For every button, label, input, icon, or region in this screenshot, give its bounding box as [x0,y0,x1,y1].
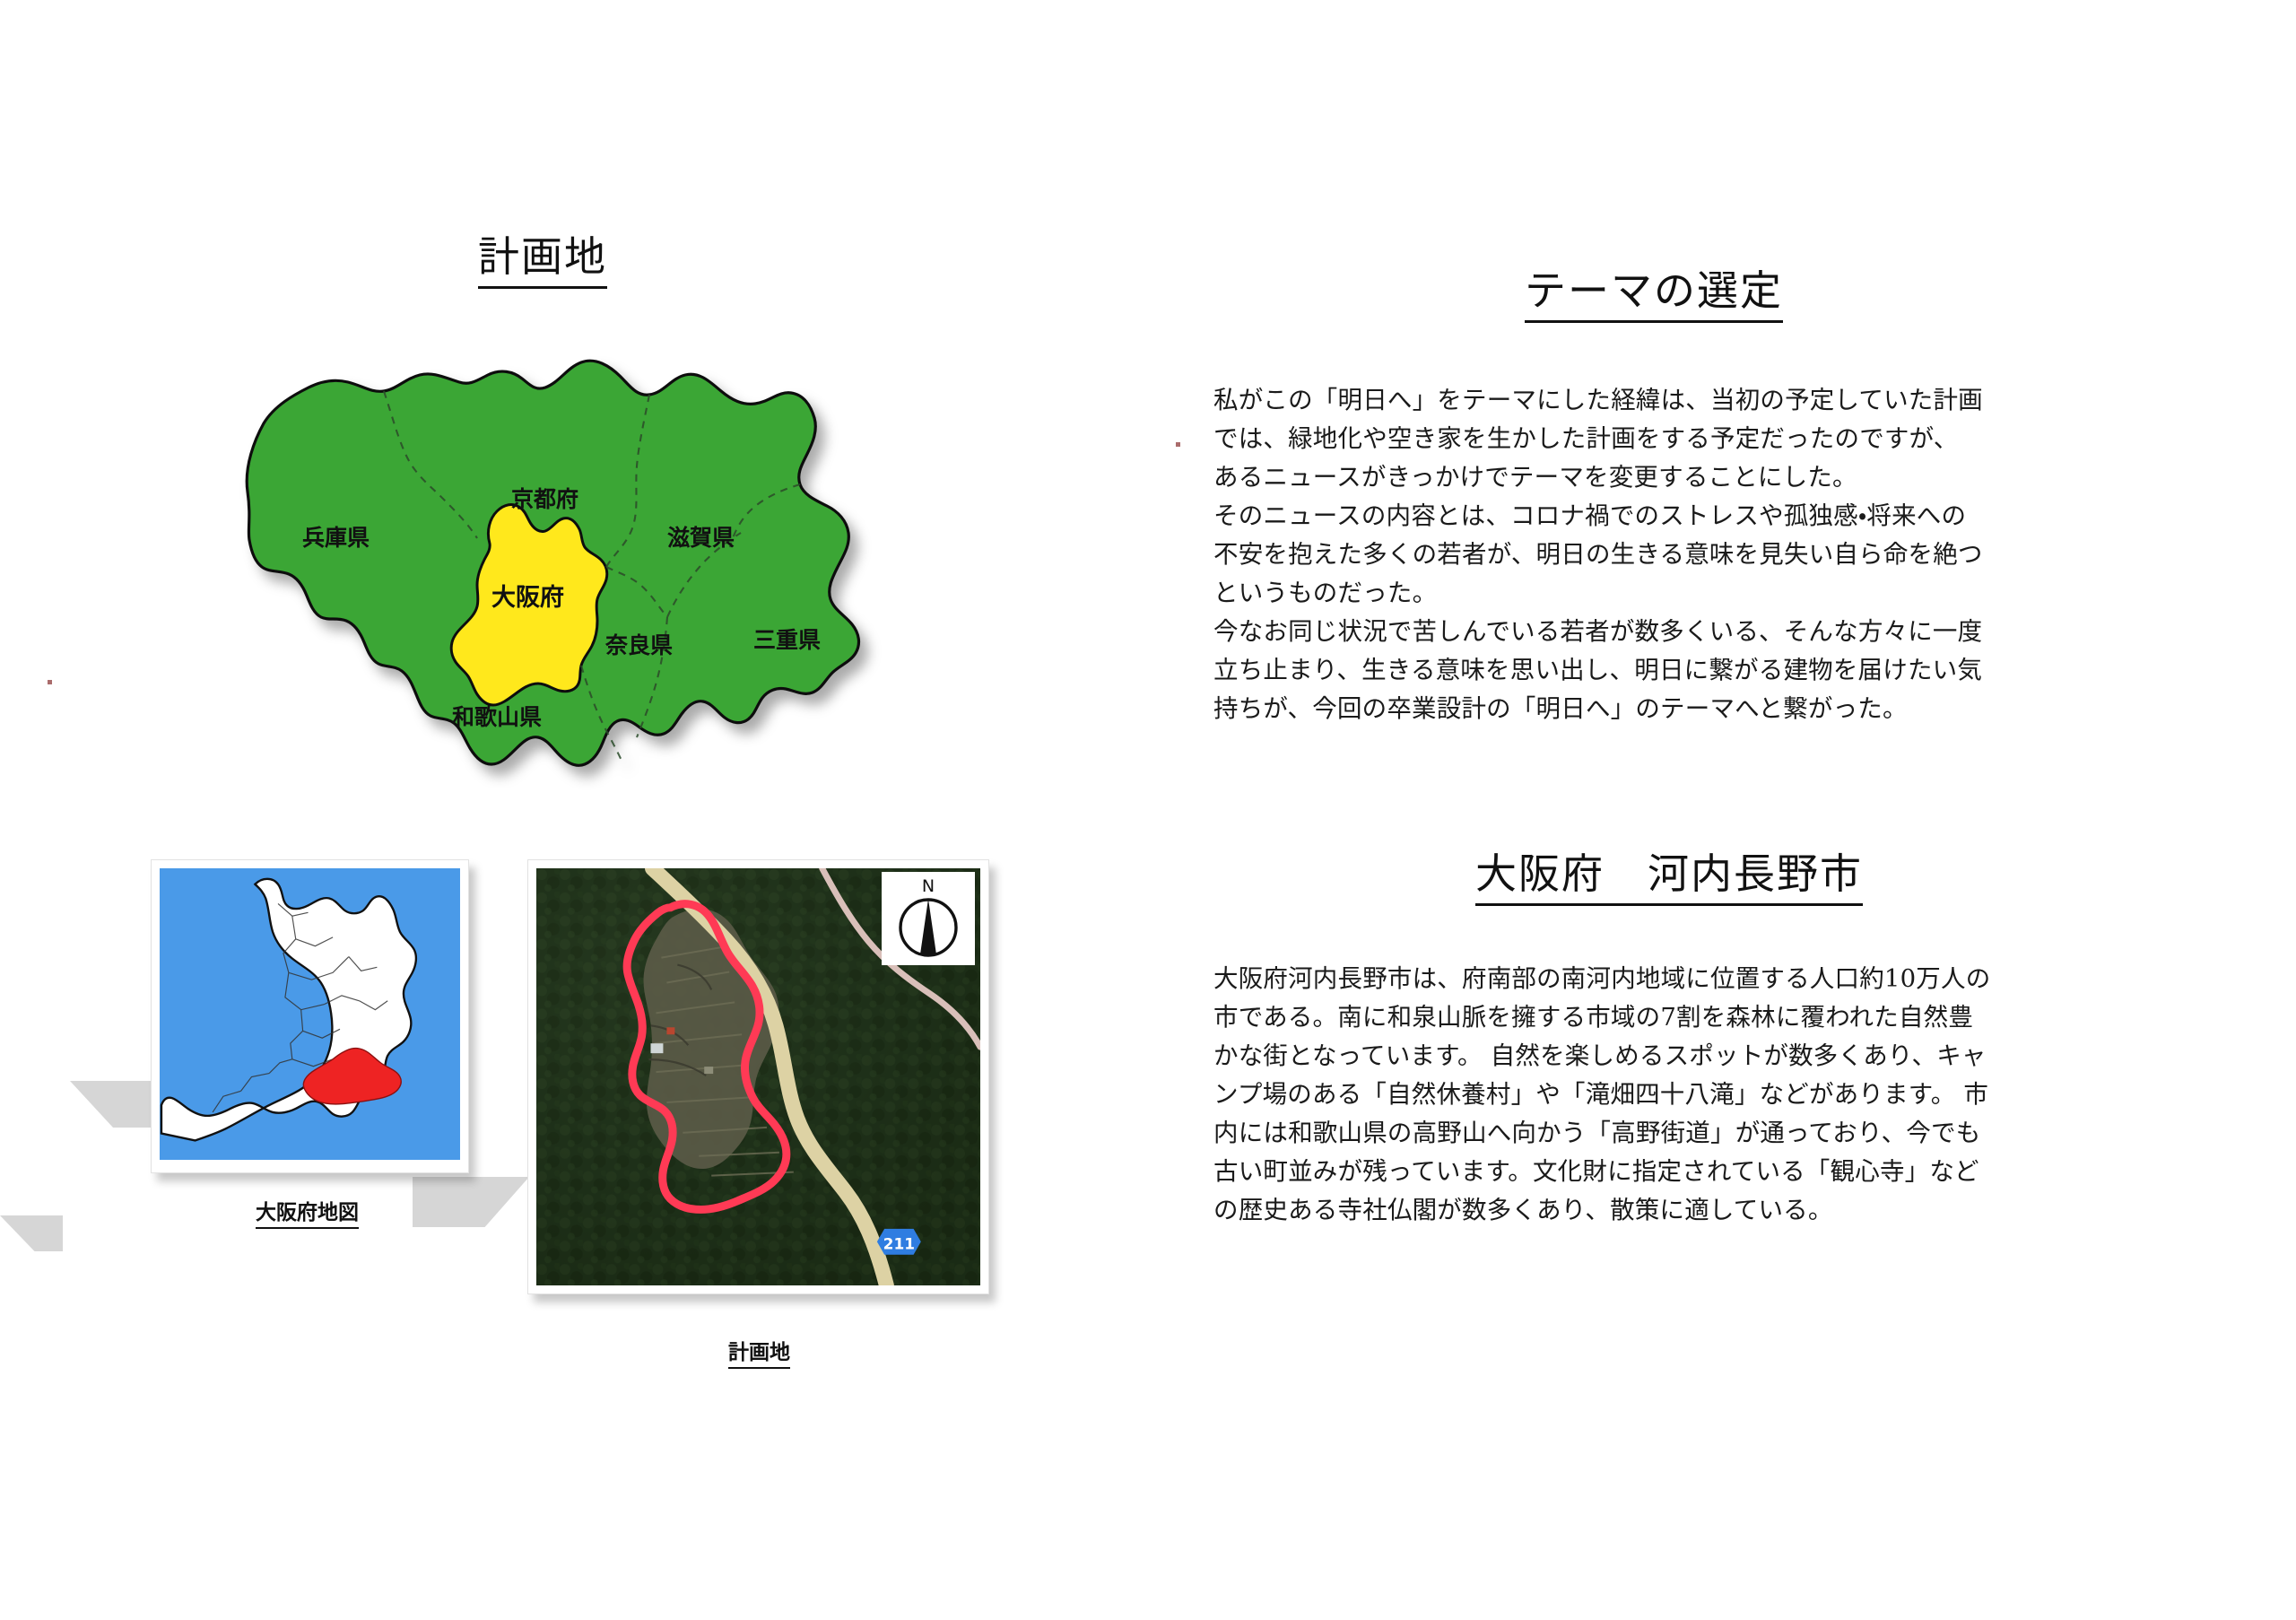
paragraph-theme: 私がこの「明日へ」をテーマにした経緯は、当初の予定していた計画 では、緑地化や空… [1213,381,2083,728]
route-shield-211: 211 [877,1229,920,1254]
caption-site-map: 計画地 [728,1335,790,1369]
section-title-city: 大阪府 河内長野市 [1475,852,1863,906]
building-structure-2 [666,1027,674,1034]
region-label-osaka: 大阪府 [491,584,564,612]
region-label-nara: 奈良県 [604,632,673,658]
osaka-prefecture-inset [151,859,469,1173]
kansai-region-map: 兵庫県 京都府 滋賀県 大阪府 奈良県 三重県 和歌山県 [208,332,890,816]
region-label-kyoto: 京都府 [511,486,578,512]
decorative-shadow-wedge-middle [413,1177,529,1227]
north-label: N [922,876,935,896]
decorative-shadow-wedge-edge [0,1215,63,1251]
stray-dot-artifact-right [1176,442,1180,447]
region-label-shiga: 滋賀県 [667,525,735,551]
north-arrow-box: N [882,872,975,965]
building-structure-1 [650,1043,663,1053]
building-structure-3 [704,1067,713,1074]
caption-osaka-map: 大阪府地図 [256,1195,359,1229]
region-label-hyogo: 兵庫県 [302,525,370,551]
region-label-mie: 三重県 [753,627,821,653]
osaka-prefecture-map [160,868,460,1160]
section-title-theme: テーマの選定 [1525,269,1783,323]
stray-dot-artifact-left [48,680,52,684]
page-title-site: 計画地 [478,235,607,289]
paragraph-city: 大阪府河内長野市は、府南部の南河内地域に位置する人口約10万人の 市である。南に… [1213,960,2083,1230]
region-label-wakayama: 和歌山県 [452,704,542,730]
site-satellite-inset: 211 N [527,859,989,1294]
slide-page: 計画地 [0,0,2296,1620]
route-shield-number: 211 [883,1234,915,1252]
